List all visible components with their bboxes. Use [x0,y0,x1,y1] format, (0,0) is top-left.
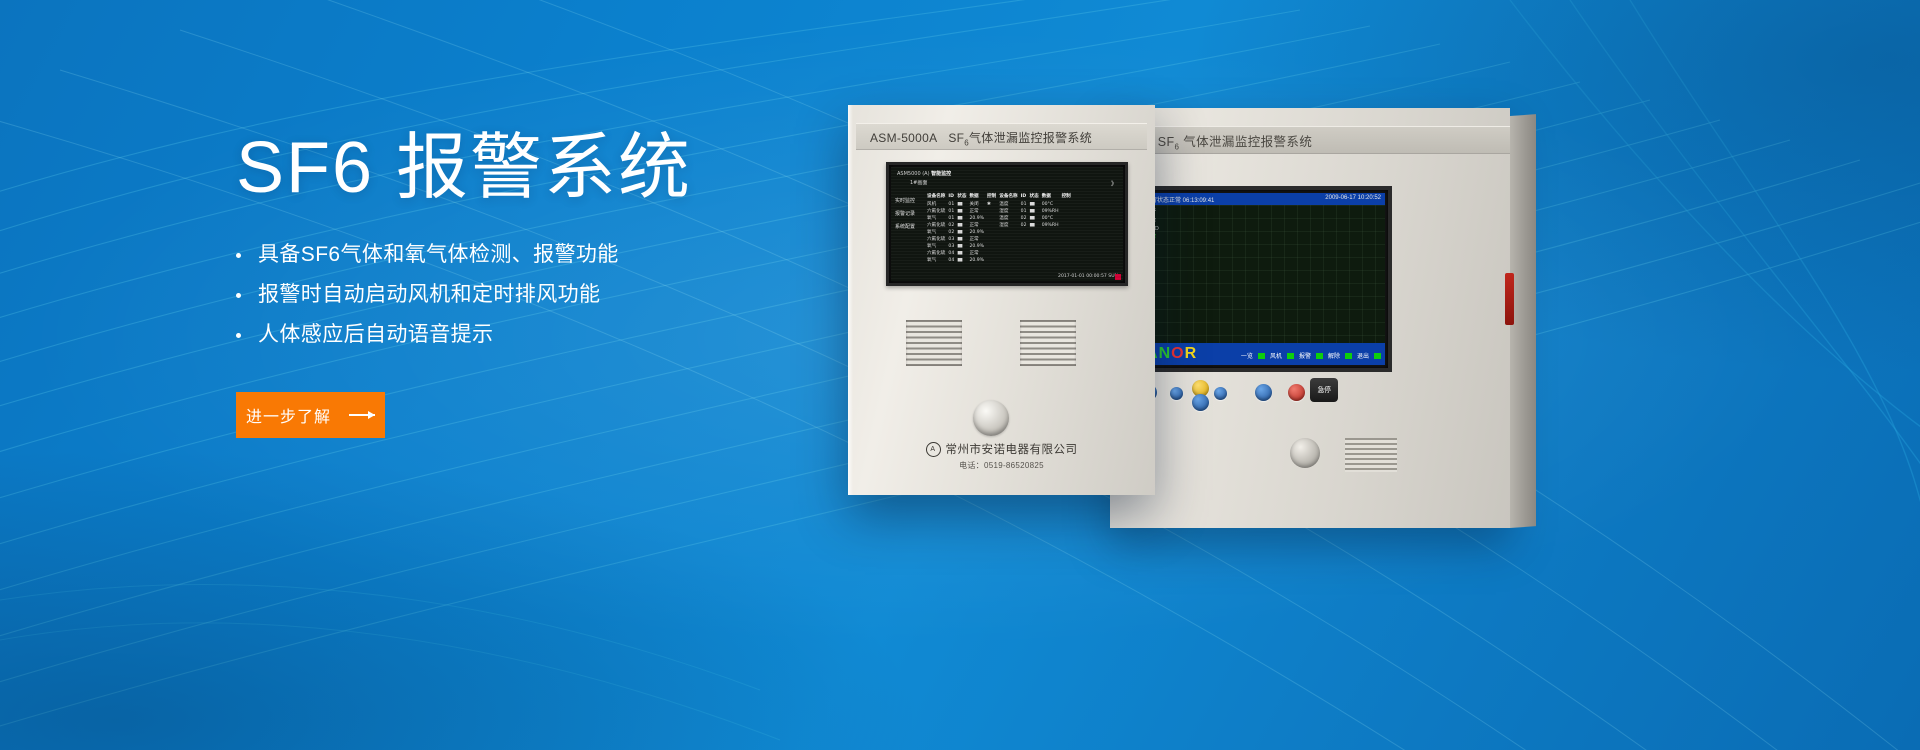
product-photo-group: 0 B SF6 气体泄漏监控报警系统 运行状态正常 06:13:09:41 20… [840,95,1900,555]
cell-status-bars: ▮▮▮ [957,229,969,236]
cell-data: 20.9% [969,243,987,250]
menu-item[interactable]: 解除 [1328,351,1340,360]
col-control: 控制 [1062,193,1074,201]
screen-a-timestamp: 2017-01-01 00:00:57 SUN [1058,274,1118,279]
menu-led-icon [1258,353,1265,359]
cell-spacer [987,229,1074,236]
cell-data: 20.9% [969,257,987,264]
col-id: ID [1021,193,1030,201]
cell-control [987,215,999,222]
cell-id: 01 [948,215,957,222]
cell-device-name: 湿度 [999,208,1020,215]
cell-device-name: 六氟化硫 [927,250,948,257]
cell-status-bars: ▮▮▮ [1030,208,1042,215]
menu-led-icon [1374,353,1381,359]
cell-device-name: 氧气 [927,243,948,250]
cell-control [1062,215,1074,222]
cell-id: 02 [1021,222,1030,229]
cell-device-name: 六氟化硫 [927,222,948,229]
hero-banner: SF6 报警系统 具备SF6气体和氧气体检测、报警功能 报警时自动启动风机和定时… [0,0,1920,750]
cell-spacer [987,236,1074,243]
cell-data: 正常 [969,222,987,229]
cell-device-name: 六氟化硫 [927,236,948,243]
cabinet-b-gas-subscript: 6 [1175,143,1180,152]
cell-status-bars: ▮▮▮ [1030,201,1042,208]
hero-copy: SF6 报警系统 具备SF6气体和氧气体检测、报警功能 报警时自动启动风机和定时… [236,130,896,438]
company-name: 常州市安诺电器有限公司 [946,441,1078,457]
cabinet-a-screen[interactable]: ASM5000 (A) 智能监控 1#画面 》 实时监控 报警记录 系统配置 设… [891,167,1123,281]
cabinet-a-screen-bezel: ASM5000 (A) 智能监控 1#画面 》 实时监控 报警记录 系统配置 设… [886,162,1128,286]
cell-device-name: 湿度 [999,222,1020,229]
cell-id: 04 [948,250,957,257]
table-row: 氧气 01 ▮▮▮ 20.9% 温度 02 ▮▮▮ 00°C [927,215,1074,222]
table-row: 六氟化硫 03 ▮▮▮ 正常 [927,236,1074,243]
learn-more-button[interactable]: 进一步了解 [236,392,385,438]
table-row: 氧气 03 ▮▮▮ 20.9% [927,243,1074,250]
col-status: 状态 [957,193,969,201]
cell-data: 09%RH [1042,222,1062,229]
cell-data: 20.9% [969,229,987,236]
cell-status-bars: ▮▮▮ [957,222,969,229]
menu-led-icon [1345,353,1352,359]
cell-id: 02 [948,222,957,229]
table-row: 六氟化硫 04 ▮▮▮ 正常 [927,250,1074,257]
speaker-vent-left [906,320,962,366]
col-control: 控制 [987,193,999,201]
sidebar-item-alarm-log[interactable]: 报警记录 [895,208,925,221]
cabinet-b-label: 0 B SF6 气体泄漏监控报警系统 [1130,131,1312,152]
screen-a-nav[interactable]: 实时监控 报警记录 系统配置 [895,195,925,234]
table-row: 六氟化硫 01 ▮▮▮ 正常 湿度 01 ▮▮▮ 09%RH [927,208,1074,215]
screen-b-titlebar: 运行状态正常 06:13:09:41 2009-06-17 10:20:52 [1141,193,1385,205]
cell-status-bars: ▮▮▮ [1030,222,1042,229]
cell-control[interactable]: ✱ [987,201,999,208]
screen-b-grid [1141,205,1385,343]
menu-item[interactable]: 风机 [1270,351,1282,360]
cell-data: 00°C [1042,201,1062,208]
cell-device-name: 温度 [999,215,1020,222]
cell-status-bars: ▮▮▮ [957,236,969,243]
page-title: SF6 报警系统 [236,130,896,208]
table-row: 氧气 02 ▮▮▮ 20.9% [927,229,1074,236]
cell-id: 01 [1021,201,1030,208]
col-device-name: 设备名称 [999,193,1020,201]
red-button[interactable] [1288,384,1305,401]
bullet-dot-icon [236,253,241,258]
cell-device-name: 温度 [999,201,1020,208]
screen-a-model: ASM5000 (A) [897,171,930,177]
cell-status-bars: ▮▮▮ [957,208,969,215]
screen-b-bottombar: ANOR 一览 风机 报警 解除 退出 [1141,343,1385,365]
cabinet-b-speaker-vent [1345,438,1397,472]
table-row: 六氟化硫 02 ▮▮▮ 正常 湿度 02 ▮▮▮ 09%RH [927,222,1074,229]
cell-id: 01 [948,208,957,215]
cell-control [1062,222,1074,229]
cell-spacer [987,250,1074,257]
menu-led-icon [1316,353,1323,359]
menu-item[interactable]: 报警 [1299,351,1311,360]
company-line: A 常州市安诺电器有限公司 [848,441,1155,457]
blue-button[interactable] [1255,384,1272,401]
screen-a-title: 智能监控 [931,171,951,177]
cabinet-a-header-strip: ASM-5000A SF6气体泄漏监控报警系统 [856,123,1147,150]
cell-control [987,222,999,229]
bullet-dot-icon [236,333,241,338]
screen-b-timestamp: 2009-06-17 10:20:52 [1325,195,1381,201]
cabinet-b-header-strip: 0 B SF6 气体泄漏监控报警系统 [1110,126,1510,154]
col-status: 状态 [1030,193,1042,201]
screen-a-tab[interactable]: 1#画面 [910,179,927,186]
motion-sensor-dome [973,400,1009,436]
cabinet-b-gas: SF [1158,135,1175,149]
cell-id: 01 [948,201,957,208]
emergency-stop-label: 急停 [1310,378,1338,402]
col-device-name: 设备名称 [927,193,948,201]
sidebar-item-system-config[interactable]: 系统配置 [895,221,925,234]
col-data: 数据 [969,193,987,201]
menu-item[interactable]: 退出 [1357,351,1369,360]
cabinet-b-red-strip [1505,273,1514,325]
cabinet-a-gas: SF [948,131,964,145]
feature-text: 人体感应后自动语音提示 [258,323,493,346]
cell-data: 正常 [969,208,987,215]
cell-control [1062,201,1074,208]
cell-device-name: 氧气 [927,215,948,222]
list-item: 人体感应后自动语音提示 [236,324,896,345]
device-cabinet-b: 0 B SF6 气体泄漏监控报警系统 运行状态正常 06:13:09:41 20… [1110,108,1510,528]
bullet-dot-icon [236,293,241,298]
speaker-vent-right [1020,320,1076,366]
cell-data: 20.9% [969,215,987,222]
cabinet-b-screen[interactable]: 运行状态正常 06:13:09:41 2009-06-17 10:20:52 报… [1141,193,1385,365]
blue-button[interactable] [1214,387,1227,400]
emergency-stop-knob[interactable]: 急停 [1310,378,1338,402]
blue-button[interactable] [1192,394,1209,411]
cell-device-name: 六氟化硫 [927,208,948,215]
col-id: ID [948,193,957,201]
arrow-right-icon [349,414,375,416]
cell-device-name: 氧气 [927,229,948,236]
menu-led-icon [1287,353,1294,359]
cell-id: 01 [1021,208,1030,215]
feature-text: 报警时自动启动风机和定时排风功能 [258,283,600,306]
cell-data: 正常 [969,250,987,257]
screen-a-status-chip-icon [1115,274,1121,280]
cell-status-bars: ▮▮▮ [957,201,969,208]
cabinet-b-label-rest: 气体泄漏监控报警系统 [1183,135,1312,149]
screen-b-status-text: 运行状态正常 06:13:09:41 [1145,195,1214,204]
cabinet-a-label: ASM-5000A SF6气体泄漏监控报警系统 [870,129,1092,147]
cabinet-a-branding: A 常州市安诺电器有限公司 电话：0519-86520825 [848,441,1155,471]
cell-data: 正常 [969,236,987,243]
feature-list: 具备SF6气体和氧气体检测、报警功能 报警时自动启动风机和定时排风功能 人体感应… [236,244,896,345]
cell-id: 03 [948,243,957,250]
cell-device-name: 风机 [927,201,948,208]
list-item: 具备SF6气体和氧气体检测、报警功能 [236,244,896,265]
blue-button[interactable] [1170,387,1183,400]
cabinet-b-button-row: 急停 [1140,380,1370,410]
table-header-row: 设备名称 ID 状态 数据 控制 设备名称 ID 状态 数据 控制 [927,193,1074,201]
cell-status-bars: ▮▮▮ [957,215,969,222]
next-page-icon[interactable]: 》 [1111,179,1117,188]
cell-id: 03 [948,236,957,243]
screen-b-menu-row[interactable]: 一览 风机 报警 解除 退出 [1241,351,1381,360]
company-logo-icon: A [926,442,941,457]
cell-status-bars: ▮▮▮ [957,250,969,257]
col-data: 数据 [1042,193,1062,201]
table-row: 氧气 04 ▮▮▮ 20.9% [927,257,1074,264]
list-item: 报警时自动启动风机和定时排风功能 [236,284,896,305]
sidebar-item-realtime[interactable]: 实时监控 [895,195,925,208]
company-phone: 电话：0519-86520825 [848,460,1155,471]
cell-control [1062,208,1074,215]
cell-data: 09%RH [1042,208,1062,215]
feature-text: 具备SF6气体和氧气体检测、报警功能 [258,243,619,266]
cell-id: 02 [948,229,957,236]
cell-control [987,208,999,215]
table-row: 风机 01 ▮▮▮ 关闭 ✱ 温度 01 ▮▮▮ 00°C [927,201,1074,208]
cell-status-bars: ▮▮▮ [957,243,969,250]
screen-a-data-table: 设备名称 ID 状态 数据 控制 设备名称 ID 状态 数据 控制 [927,193,1074,264]
screen-a-header: ASM5000 (A) 智能监控 [897,170,951,177]
cell-status-bars: ▮▮▮ [957,257,969,264]
learn-more-label: 进一步了解 [246,403,331,427]
menu-item[interactable]: 一览 [1241,351,1253,360]
cell-id: 02 [1021,215,1030,222]
cell-status-bars: ▮▮▮ [1030,215,1042,222]
cabinet-a-label-rest: 气体泄漏监控报警系统 [969,131,1092,145]
cabinet-b-screen-bezel: 运行状态正常 06:13:09:41 2009-06-17 10:20:52 报… [1134,186,1392,372]
cell-spacer [987,257,1074,264]
cell-device-name: 氧气 [927,257,948,264]
cell-data: 关闭 [969,201,987,208]
cabinet-b-motion-sensor [1290,438,1320,468]
cell-spacer [987,243,1074,250]
cell-id: 04 [948,257,957,264]
cell-data: 00°C [1042,215,1062,222]
